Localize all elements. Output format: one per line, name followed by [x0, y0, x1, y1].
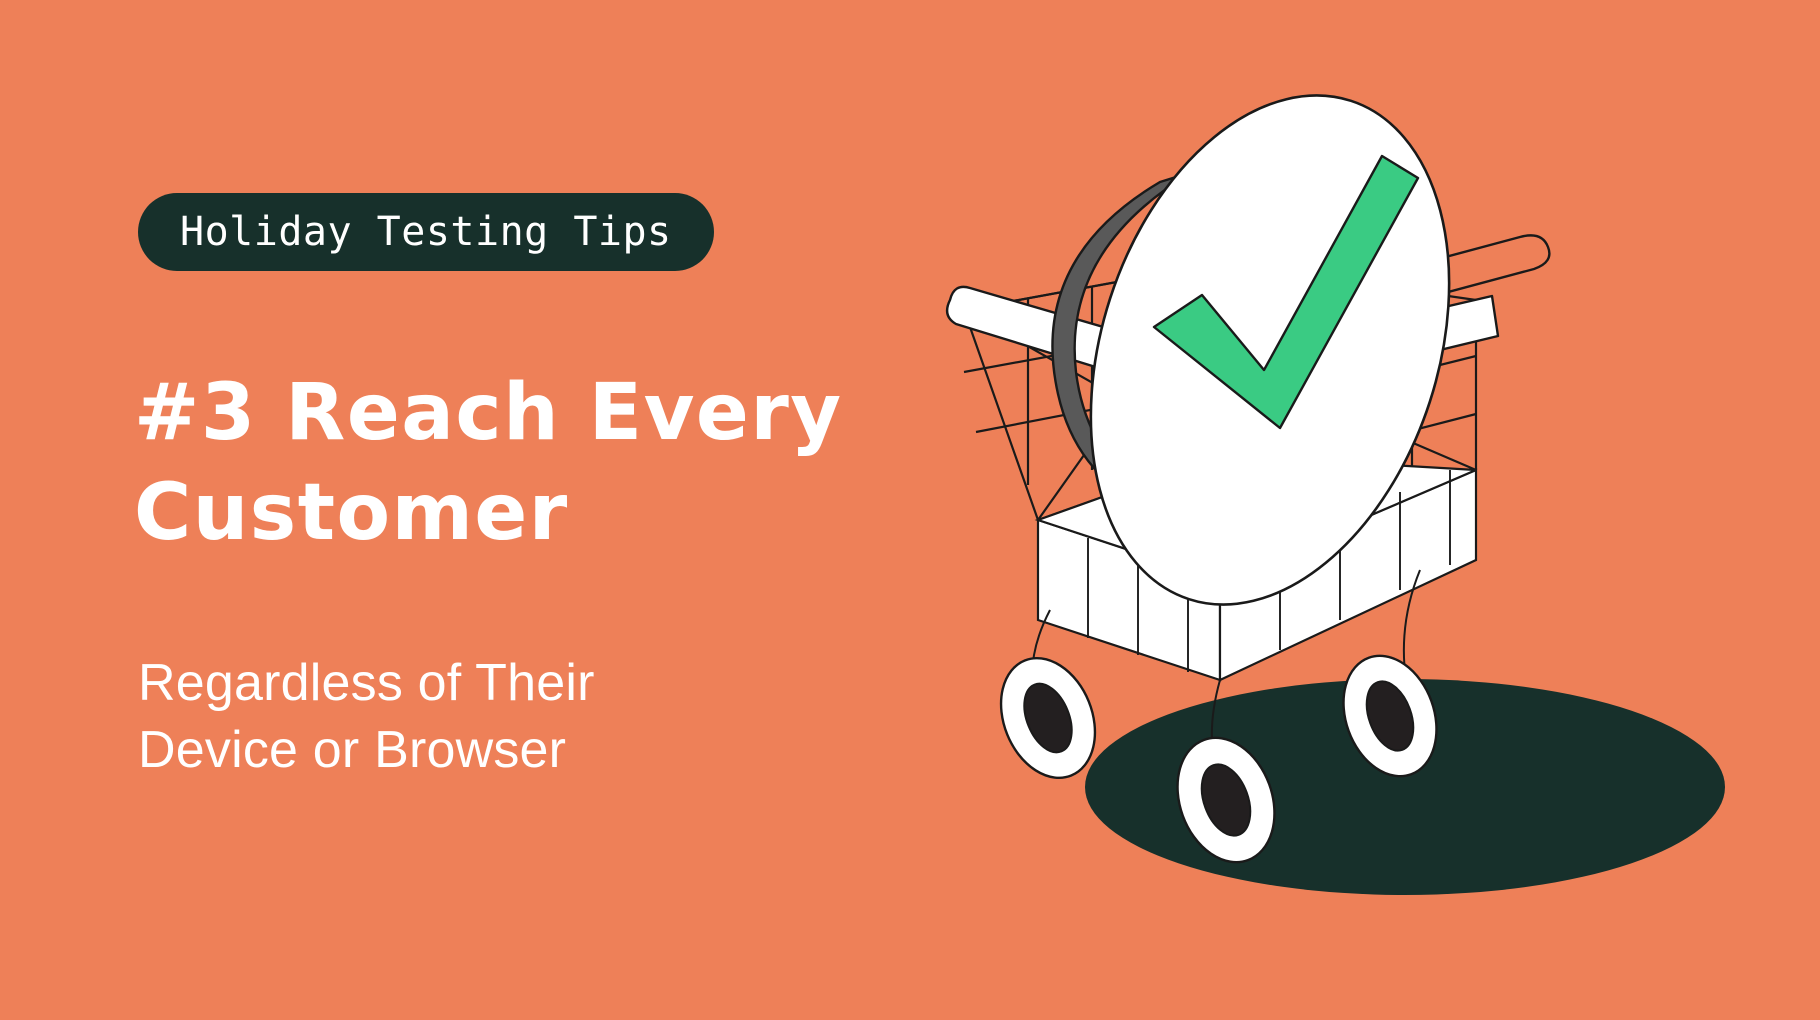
illustration-shopping-cart-with-checkmark	[920, 0, 1820, 1020]
page-subtitle-line-2: Device or Browser	[138, 717, 838, 784]
page-subtitle-line-1: Regardless of Their	[138, 650, 838, 717]
category-badge: Holiday Testing Tips	[138, 193, 714, 271]
page-title-line-2: Customer	[134, 464, 924, 564]
text-column: Holiday Testing Tips #3 Reach Every Cust…	[138, 0, 958, 1020]
poster-canvas: Holiday Testing Tips #3 Reach Every Cust…	[0, 0, 1820, 1020]
page-subtitle: Regardless of Their Device or Browser	[138, 650, 838, 784]
category-badge-label: Holiday Testing Tips	[180, 209, 672, 255]
page-title-line-1: #3 Reach Every	[134, 364, 924, 464]
page-title: #3 Reach Every Customer	[134, 364, 924, 564]
